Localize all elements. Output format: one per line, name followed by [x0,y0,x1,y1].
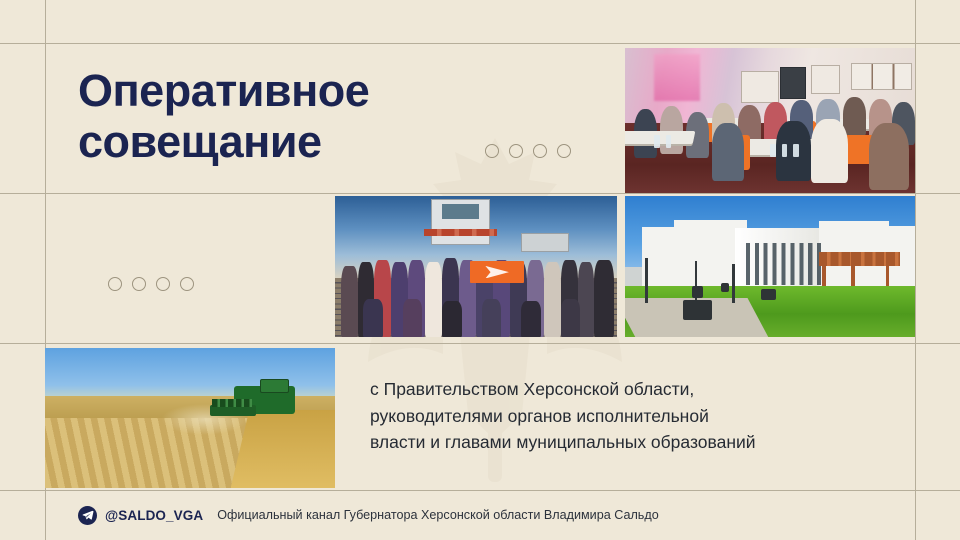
circle-icon [533,144,547,158]
photo-group [335,196,617,337]
footer-bar: @SALDO_VGA Официальный канал Губернатора… [0,490,960,540]
photo-harvest [45,348,335,488]
photo-meeting [625,48,915,193]
grid-rule-horizontal-mid [0,193,960,194]
photo-harvest-image [45,348,335,488]
grid-rule-vertical-right [915,0,916,540]
dot-motif-left [108,277,194,291]
circle-icon [108,277,122,291]
photo-meeting-image [625,48,915,193]
slide-caption: с Правительством Херсонской области, рук… [370,376,890,456]
slide-canvas: Оперативное совещание [0,0,960,540]
telegram-icon [78,506,97,525]
telegram-description: Официальный канал Губернатора Херсонской… [217,508,659,522]
photo-group-image [335,196,617,337]
photo-buildings [625,196,915,337]
circle-icon [180,277,194,291]
grid-rule-horizontal-lower [0,343,960,344]
grid-rule-horizontal-top [0,43,960,44]
photo-buildings-image [625,196,915,337]
telegram-handle[interactable]: @SALDO_VGA [105,508,203,523]
circle-icon [132,277,146,291]
dot-motif-title [485,144,571,158]
circle-icon [509,144,523,158]
page-title: Оперативное совещание [78,66,548,168]
circle-icon [485,144,499,158]
circle-icon [156,277,170,291]
circle-icon [557,144,571,158]
